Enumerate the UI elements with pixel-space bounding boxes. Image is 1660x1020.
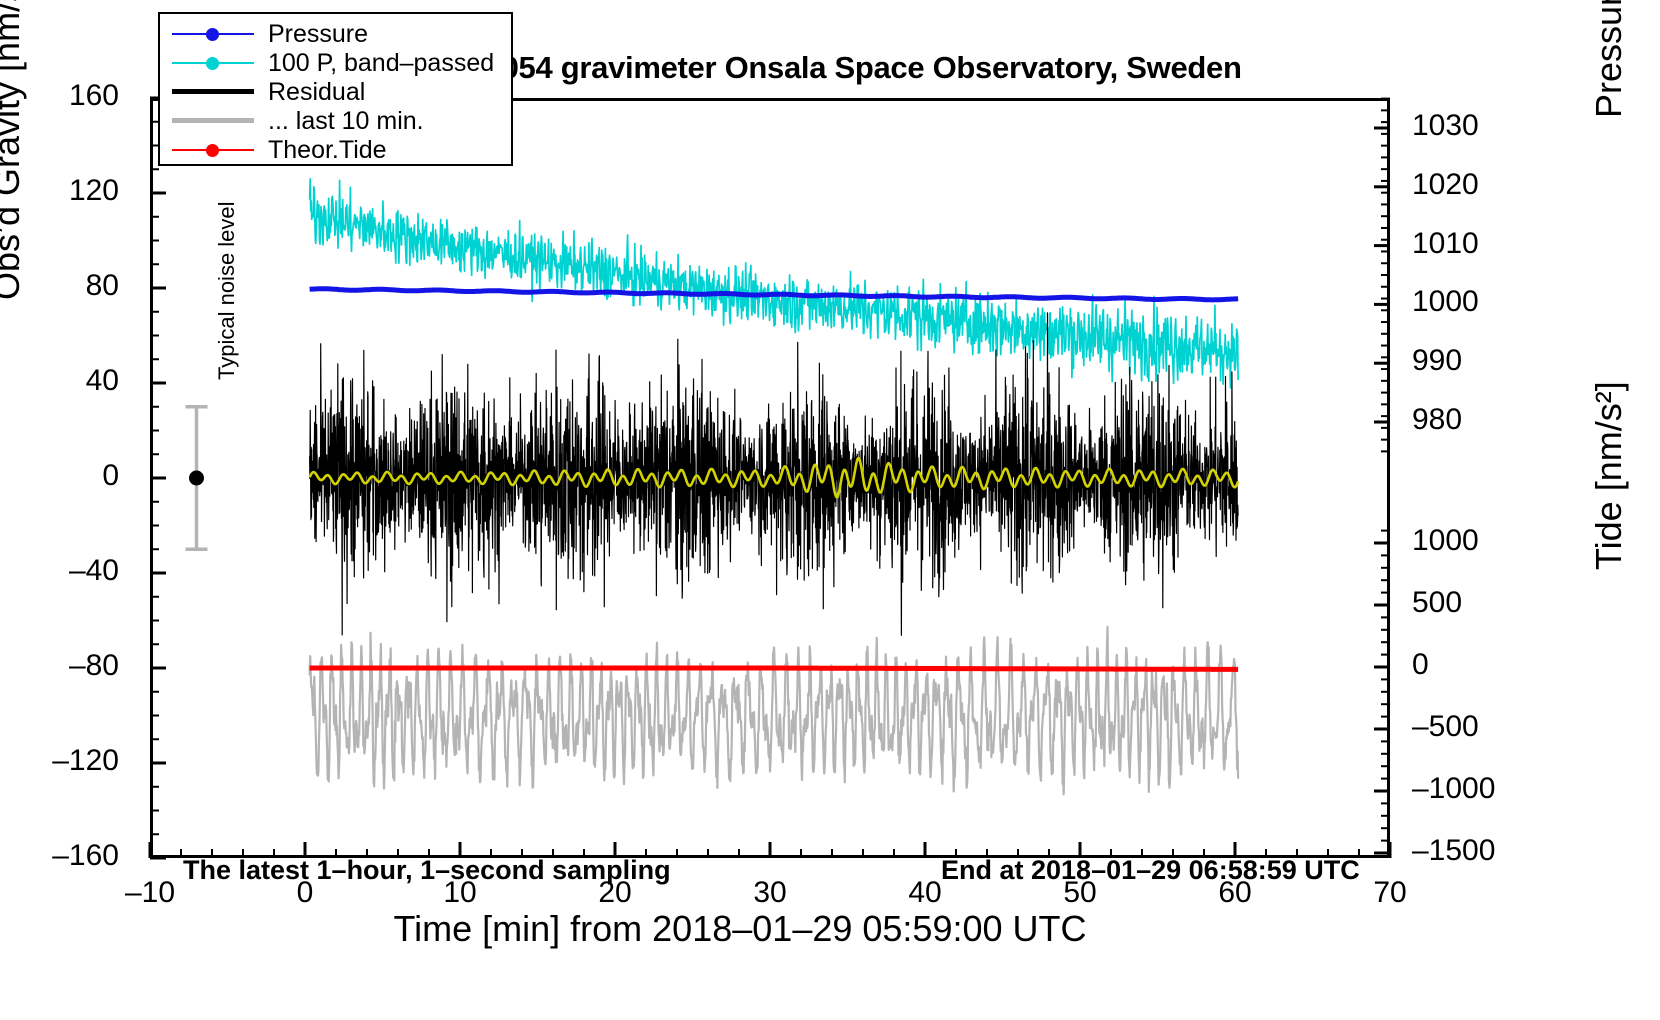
y-tick-tide-5: –1500 bbox=[1412, 834, 1495, 868]
legend-dot-icon bbox=[206, 28, 219, 41]
y-tick-tide-3: –500 bbox=[1412, 710, 1479, 744]
legend-dot-icon bbox=[206, 57, 219, 70]
y-axis-label-left: Obs’d Gravity [nm/s²] bbox=[0, 0, 28, 300]
y-tick-tide-4: –1000 bbox=[1412, 772, 1495, 806]
end-time-note: End at 2018–01–29 06:58:59 UTC bbox=[941, 855, 1360, 886]
y-tick-left-6: –80 bbox=[34, 649, 119, 683]
legend-swatch-3 bbox=[172, 107, 254, 135]
legend-swatch-0 bbox=[172, 20, 254, 48]
legend-item-3[interactable]: ... last 10 min. bbox=[160, 107, 511, 135]
y-tick-tide-2: 0 bbox=[1412, 648, 1429, 682]
legend-item-1[interactable]: 100 P, band–passed bbox=[160, 49, 511, 77]
y-tick-tide-0: 1000 bbox=[1412, 524, 1479, 558]
y-tick-left-3: 40 bbox=[34, 364, 119, 398]
legend-swatch-2 bbox=[172, 78, 254, 106]
y-tick-left-7: –120 bbox=[34, 744, 119, 778]
y-tick-left-1: 120 bbox=[34, 174, 119, 208]
legend-swatch-4 bbox=[172, 136, 254, 164]
y-axis-label-tide: Tide [nm/s²] bbox=[1588, 381, 1630, 570]
y-axis-label-pressure-text: Pressure [hPa] bbox=[1588, 0, 1629, 118]
y-tick-pressure-0: 1030 bbox=[1412, 109, 1479, 143]
legend-item-4[interactable]: Theor.Tide bbox=[160, 136, 511, 164]
y-tick-pressure-3: 1000 bbox=[1412, 285, 1479, 319]
legend-label-2: Residual bbox=[268, 78, 365, 107]
legend-label-0: Pressure bbox=[268, 20, 368, 49]
legend: Pressure100 P, band–passedResidual... la… bbox=[158, 12, 513, 166]
y-tick-left-4: 0 bbox=[34, 459, 119, 493]
y-tick-pressure-4: 990 bbox=[1412, 344, 1462, 378]
y-tick-pressure-1: 1020 bbox=[1412, 168, 1479, 202]
legend-line-icon bbox=[172, 89, 254, 94]
y-tick-left-0: 160 bbox=[34, 79, 119, 113]
plot-area bbox=[150, 98, 1390, 858]
legend-item-0[interactable]: Pressure bbox=[160, 20, 511, 48]
sampling-note: The latest 1–hour, 1–second sampling bbox=[183, 855, 671, 886]
x-tick-4: 30 bbox=[725, 876, 815, 910]
legend-label-3: ... last 10 min. bbox=[268, 107, 424, 136]
x-axis-label: Time [min] from 2018–01–29 05:59:00 UTC bbox=[0, 908, 1480, 950]
y-tick-pressure-5: 980 bbox=[1412, 403, 1462, 437]
y-axis-label-pressure: Pressure [hPa] bbox=[1588, 0, 1630, 118]
y-tick-left-5: –40 bbox=[34, 554, 119, 588]
y-tick-pressure-2: 1010 bbox=[1412, 227, 1479, 261]
y-tick-left-8: –160 bbox=[34, 839, 119, 873]
legend-item-2[interactable]: Residual bbox=[160, 78, 511, 106]
legend-dot-icon bbox=[206, 144, 219, 157]
y-tick-left-2: 80 bbox=[34, 269, 119, 303]
legend-line-icon bbox=[172, 118, 254, 123]
y-tick-tide-1: 500 bbox=[1412, 586, 1462, 620]
x-tick-0: –10 bbox=[105, 876, 195, 910]
legend-swatch-1 bbox=[172, 49, 254, 77]
y-axis-label-left-text: Obs’d Gravity [nm/s²] bbox=[0, 0, 27, 300]
noise-level-label: Typical noise level bbox=[214, 201, 240, 380]
legend-label-4: Theor.Tide bbox=[268, 136, 387, 165]
legend-label-1: 100 P, band–passed bbox=[268, 49, 494, 78]
y-axis-label-tide-text: Tide [nm/s²] bbox=[1588, 381, 1629, 570]
